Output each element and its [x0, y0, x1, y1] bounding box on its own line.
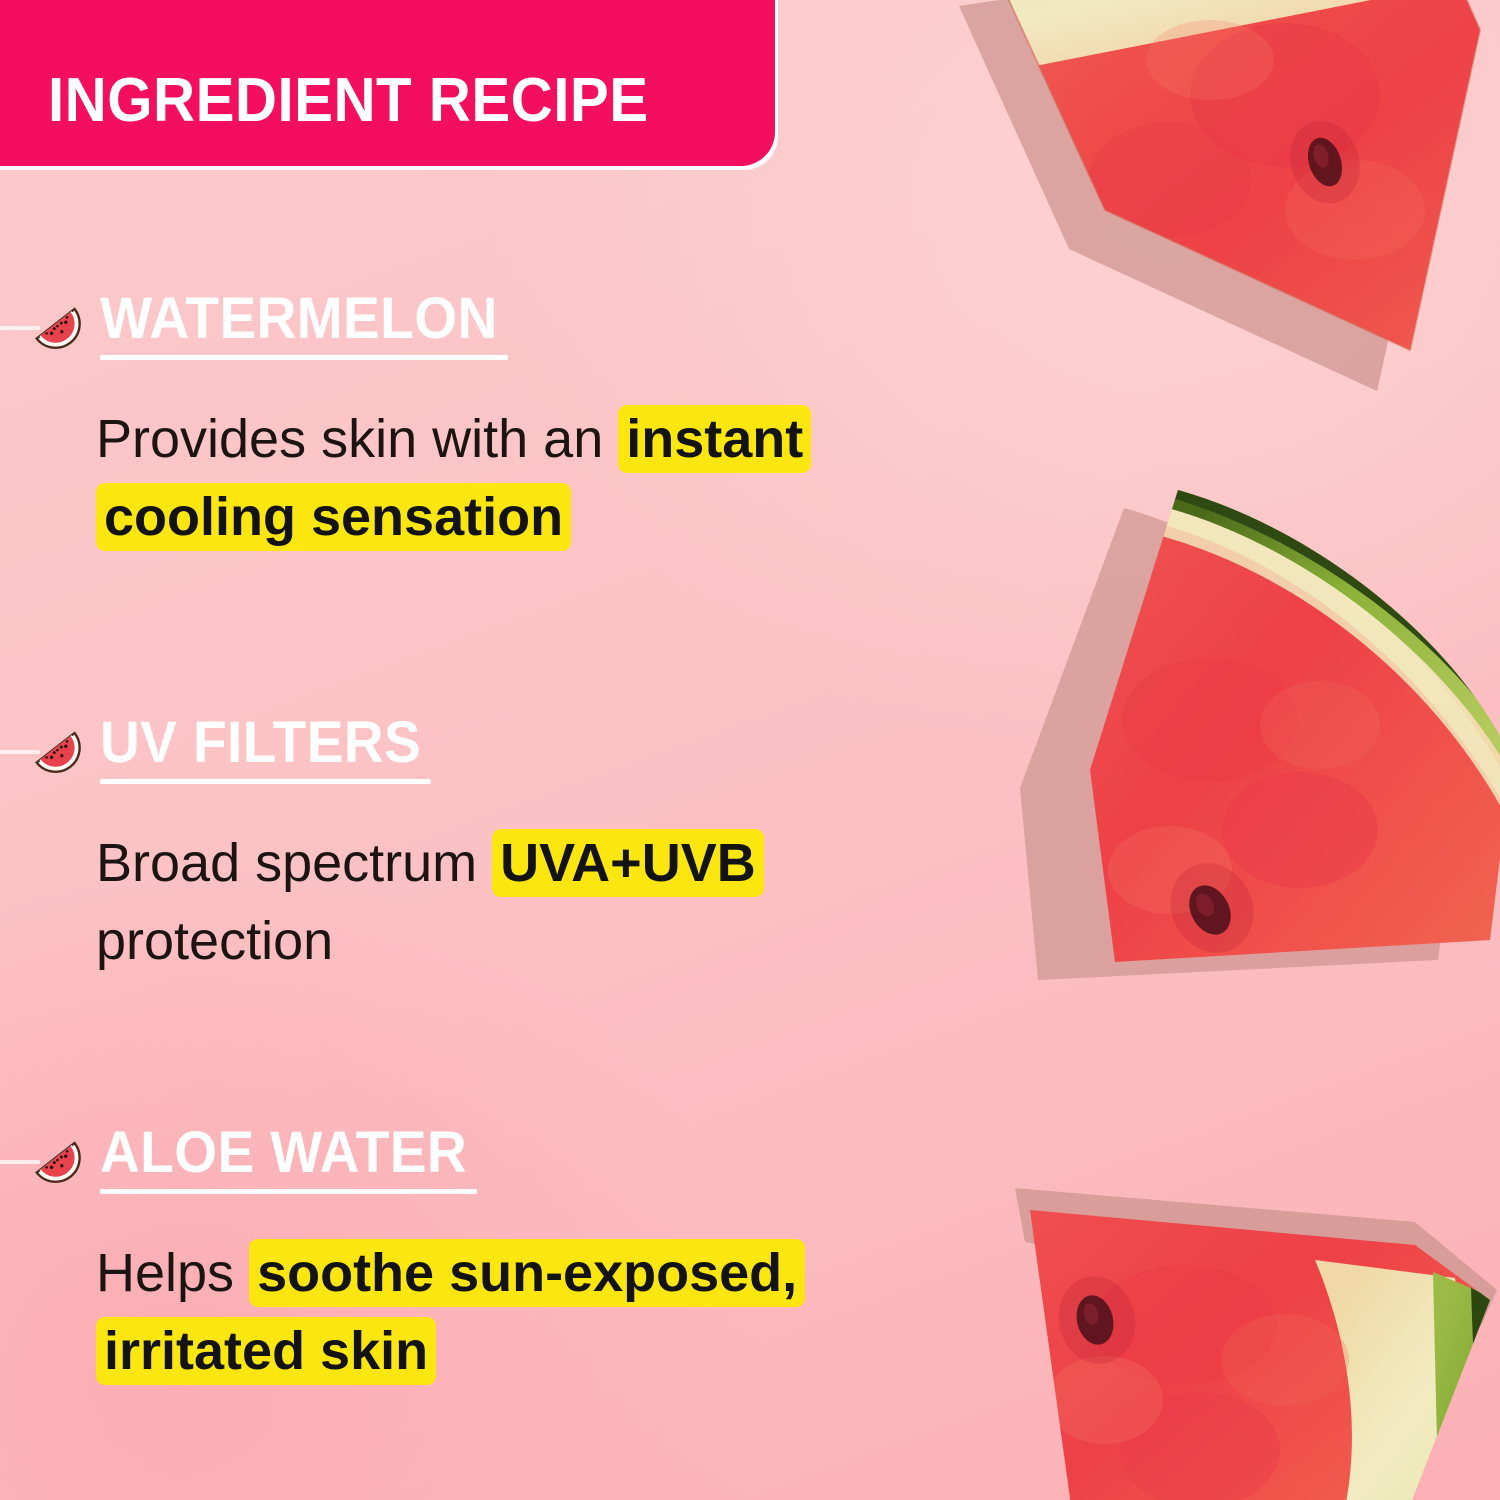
ingredient-heading-row: UV FILTERS: [0, 712, 1000, 798]
watermelon-slice-icon: [26, 1128, 84, 1186]
page-title: INGREDIENT RECIPE: [48, 70, 649, 132]
ingredient-recipe-poster: INGREDIENT RECIPE: [0, 0, 1500, 1500]
heading-underline: [100, 779, 431, 784]
watermelon-slice-icon: [26, 294, 84, 352]
watermelon-wedge-photo-bottom: [985, 1150, 1500, 1500]
ingredient-description: Broad spectrum UVA+UVB protection: [96, 824, 996, 980]
text-plain: Broad spectrum: [96, 833, 492, 893]
banner-header: INGREDIENT RECIPE: [0, 0, 775, 166]
ingredient-description: Helps soothe sun-exposed, irritated skin: [96, 1234, 996, 1390]
ingredient-heading-wrap: WATERMELON: [100, 288, 519, 360]
ingredient-heading-row: ALOE WATER: [0, 1122, 1000, 1208]
text-highlight: UVA+UVB: [492, 829, 764, 897]
ingredient-block-aloe-water: ALOE WATER Helps soothe sun-exposed, irr…: [0, 1122, 1000, 1390]
heading-underline: [100, 1189, 477, 1194]
ingredient-block-watermelon: WATERMELON Provides skin with an instant…: [0, 288, 1000, 556]
watermelon-slice-icon: [26, 718, 84, 776]
ingredient-description: Provides skin with an instant cooling se…: [96, 400, 996, 556]
ingredient-heading-wrap: ALOE WATER: [100, 1122, 486, 1194]
ingredient-title: UV FILTERS: [100, 712, 421, 774]
ingredient-title: WATERMELON: [100, 288, 498, 350]
text-plain: Provides skin with an: [96, 409, 618, 469]
ingredient-title: ALOE WATER: [100, 1122, 467, 1184]
heading-underline: [100, 355, 508, 360]
ingredient-block-uv-filters: UV FILTERS Broad spectrum UVA+UVB protec…: [0, 712, 1000, 980]
watermelon-wedge-photo-top: [955, 0, 1500, 400]
ingredient-heading-wrap: UV FILTERS: [100, 712, 438, 784]
text-plain: protection: [96, 911, 333, 971]
watermelon-wedge-photo-middle: [1020, 470, 1500, 1000]
text-plain: Helps: [96, 1243, 249, 1303]
ingredient-heading-row: WATERMELON: [0, 288, 1000, 374]
